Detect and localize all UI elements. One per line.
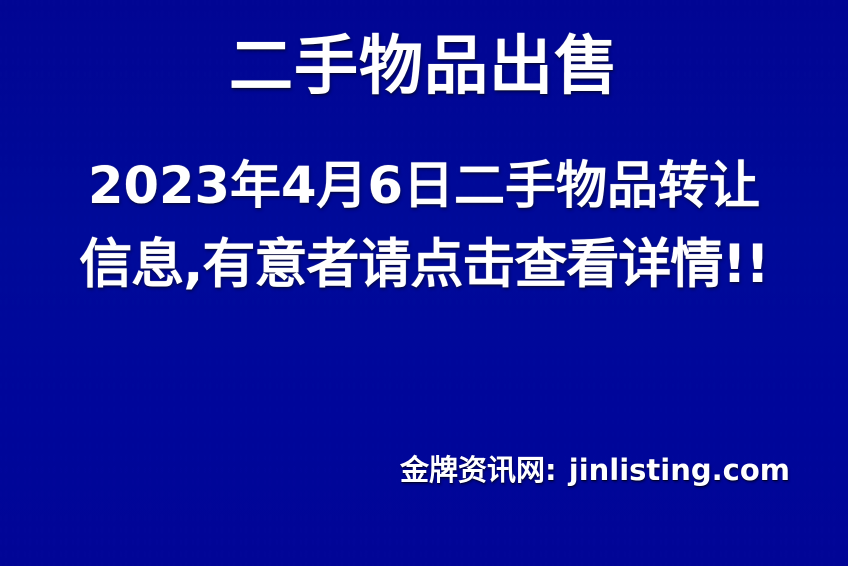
site-url-text: jinlisting.com <box>569 453 790 487</box>
announcement-body: 2023年4月6日二手物品转让 信息,有意者请点击查看详情!! <box>0 148 848 304</box>
poster-canvas: 二手物品出售 2023年4月6日二手物品转让 信息,有意者请点击查看详情!! 金… <box>0 0 848 566</box>
poster-content: 二手物品出售 2023年4月6日二手物品转让 信息,有意者请点击查看详情!! 金… <box>0 0 848 566</box>
page-title: 二手物品出售 <box>0 28 848 106</box>
site-name-label: 金牌资讯网: <box>400 453 557 487</box>
announcement-line-1: 2023年4月6日二手物品转让 <box>0 148 848 226</box>
footer-attribution: 金牌资讯网: jinlisting.com <box>400 452 790 488</box>
announcement-line-2: 信息,有意者请点击查看详情!! <box>0 226 848 304</box>
